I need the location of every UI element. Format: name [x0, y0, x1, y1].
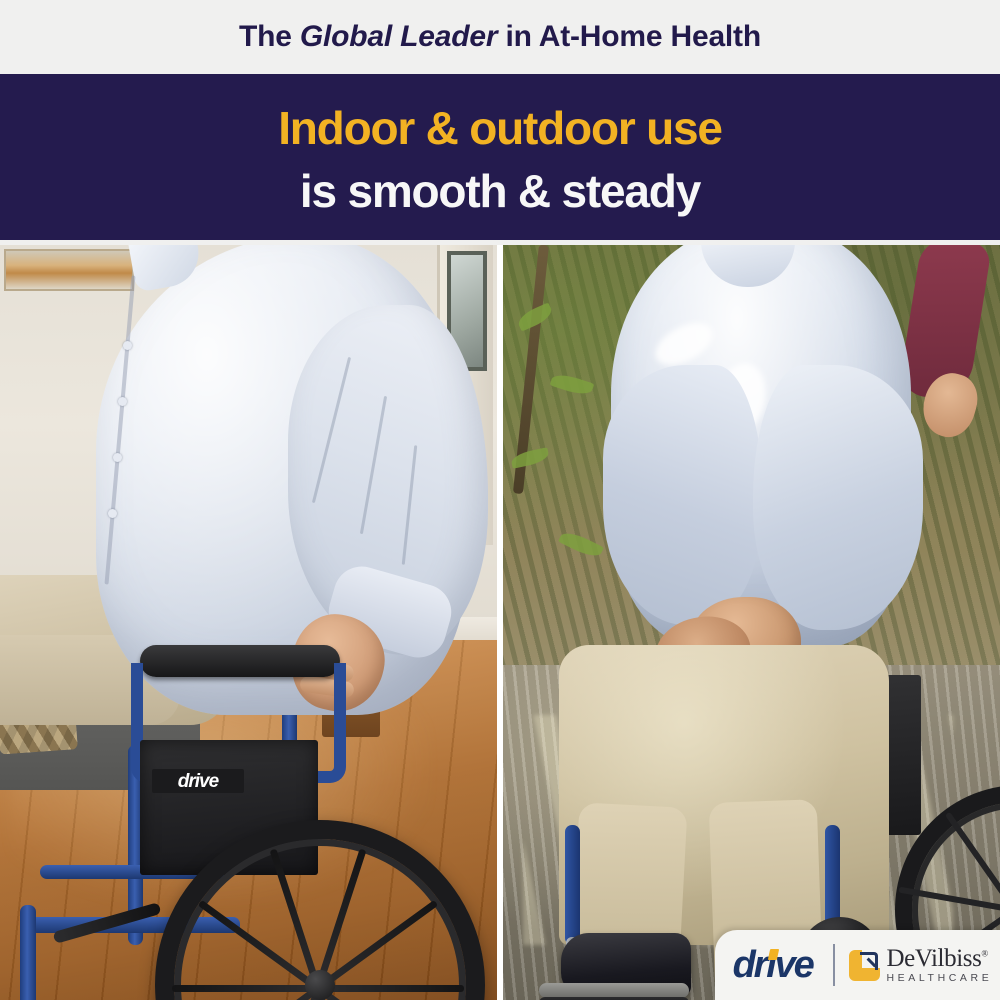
- devilbiss-healthcare-text: HEALTHCARE: [887, 973, 993, 984]
- shoe-sole-left: [539, 983, 689, 998]
- headline-line-1: Indoor & outdoor use: [0, 105, 1000, 151]
- headline-band: Indoor & outdoor use is smooth & steady: [0, 74, 1000, 240]
- devilbiss-name: DeVilbiss®: [887, 946, 993, 971]
- wheel-hub: [305, 970, 335, 1000]
- eyebrow-prefix: The: [239, 20, 300, 53]
- devilbiss-logo: DeVilbiss® HEALTHCARE: [849, 946, 993, 984]
- chair-drive-logo-text: drive: [178, 772, 218, 791]
- photo-row: drive: [0, 245, 1000, 1000]
- headline-line-2: is smooth & steady: [0, 168, 1000, 214]
- seated-person-left-arm: [603, 365, 763, 625]
- chair-drive-logo-badge: drive: [152, 769, 244, 793]
- eyebrow-emphasis: Global Leader: [300, 20, 497, 53]
- indoor-wheelchair-photo: drive: [0, 245, 497, 1000]
- shirt-button: [108, 509, 117, 518]
- shirt-button: [123, 341, 132, 350]
- wall-art-icon: [4, 249, 134, 291]
- devilbiss-wordmark: DeVilbiss® HEALTHCARE: [887, 946, 993, 984]
- wheel-spoke: [172, 985, 318, 992]
- eyebrow-strip: The Global Leader in At-Home Health: [0, 0, 1000, 74]
- drive-logo-accent-icon: [768, 949, 779, 960]
- devilbiss-mark-icon: [849, 950, 880, 981]
- outdoor-wheelchair-photo: [503, 245, 1000, 1000]
- legrest-tube-left: [565, 825, 580, 945]
- logo-divider: [833, 944, 835, 986]
- shirt-button: [118, 397, 127, 406]
- wheel-spoke: [318, 985, 464, 992]
- marketing-poster: The Global Leader in At-Home Health Indo…: [0, 0, 1000, 1000]
- registered-mark: ®: [981, 949, 987, 959]
- devilbiss-arrow-icon: [866, 957, 876, 967]
- drive-logo: drive: [723, 946, 829, 984]
- brand-logo-badge: drive DeVilbiss® HEALTHCARE: [715, 930, 1000, 1000]
- shirt-button: [113, 453, 122, 462]
- devilbiss-name-text: DeVilbiss: [887, 945, 982, 972]
- seated-person-right-arm: [753, 365, 923, 630]
- eyebrow-suffix: in At-Home Health: [497, 20, 761, 53]
- eyebrow-tagline: The Global Leader in At-Home Health: [239, 20, 761, 54]
- chair-caster-post: [20, 905, 36, 1000]
